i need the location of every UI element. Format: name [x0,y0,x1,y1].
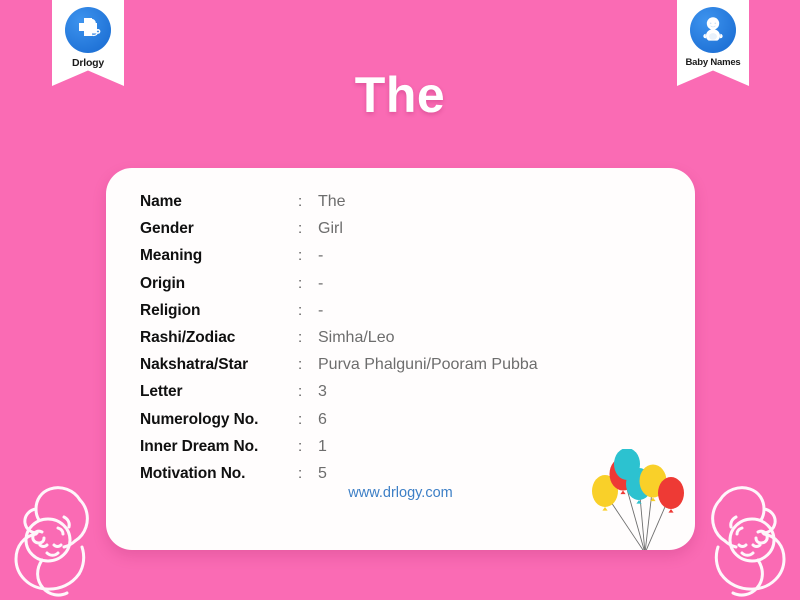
detail-value: - [318,302,323,320]
baby-names-logo-circle [690,7,736,53]
detail-separator: : [298,356,318,373]
detail-label: Name [140,193,298,211]
detail-label: Motivation No. [140,465,298,483]
detail-row-meaning: Meaning : - [140,247,660,274]
detail-separator: : [298,275,318,292]
website-url-link[interactable]: www.drlogy.com [106,485,695,501]
detail-value: The [318,193,346,211]
detail-label: Gender [140,220,298,238]
detail-value: - [318,275,323,293]
name-detail-card: Name : The Gender : Girl Meaning : - Ori… [106,168,695,550]
detail-value: 6 [318,411,327,429]
detail-row-religion: Religion : - [140,302,660,329]
mother-and-baby-icon-right [690,472,798,600]
detail-separator: : [298,302,318,319]
detail-value: Simha/Leo [318,329,395,347]
detail-value: 5 [318,465,327,483]
doctor-stethoscope-cross-icon [71,13,105,47]
detail-label: Nakshatra/Star [140,356,298,374]
detail-separator: : [298,193,318,210]
page-title: The [0,66,800,124]
detail-separator: : [298,329,318,346]
detail-separator: : [298,220,318,237]
detail-label: Meaning [140,247,298,265]
detail-row-name: Name : The [140,193,660,220]
mother-and-baby-icon-left [2,472,110,600]
detail-separator: : [298,247,318,264]
drlogy-logo-circle [65,7,111,53]
detail-row-letter: Letter : 3 [140,383,660,410]
detail-value: 3 [318,383,327,401]
detail-row-origin: Origin : - [140,275,660,302]
detail-value: 1 [318,438,327,456]
detail-value: - [318,247,323,265]
detail-value: Purva Phalguni/Pooram Pubba [318,356,538,374]
detail-value: Girl [318,220,343,238]
detail-row-numerology-no: Numerology No. : 6 [140,411,660,438]
sitting-baby-icon [696,13,730,47]
detail-label: Numerology No. [140,411,298,429]
detail-row-gender: Gender : Girl [140,220,660,247]
detail-label: Origin [140,275,298,293]
detail-separator: : [298,411,318,428]
detail-list: Name : The Gender : Girl Meaning : - Ori… [140,193,660,492]
detail-row-rashi-zodiac: Rashi/Zodiac : Simha/Leo [140,329,660,356]
detail-label: Religion [140,302,298,320]
detail-label: Rashi/Zodiac [140,329,298,347]
detail-separator: : [298,465,318,482]
detail-label: Letter [140,383,298,401]
detail-separator: : [298,383,318,400]
detail-row-nakshatra-star: Nakshatra/Star : Purva Phalguni/Pooram P… [140,356,660,383]
detail-row-inner-dream-no: Inner Dream No. : 1 [140,438,660,465]
detail-separator: : [298,438,318,455]
detail-label: Inner Dream No. [140,438,298,456]
